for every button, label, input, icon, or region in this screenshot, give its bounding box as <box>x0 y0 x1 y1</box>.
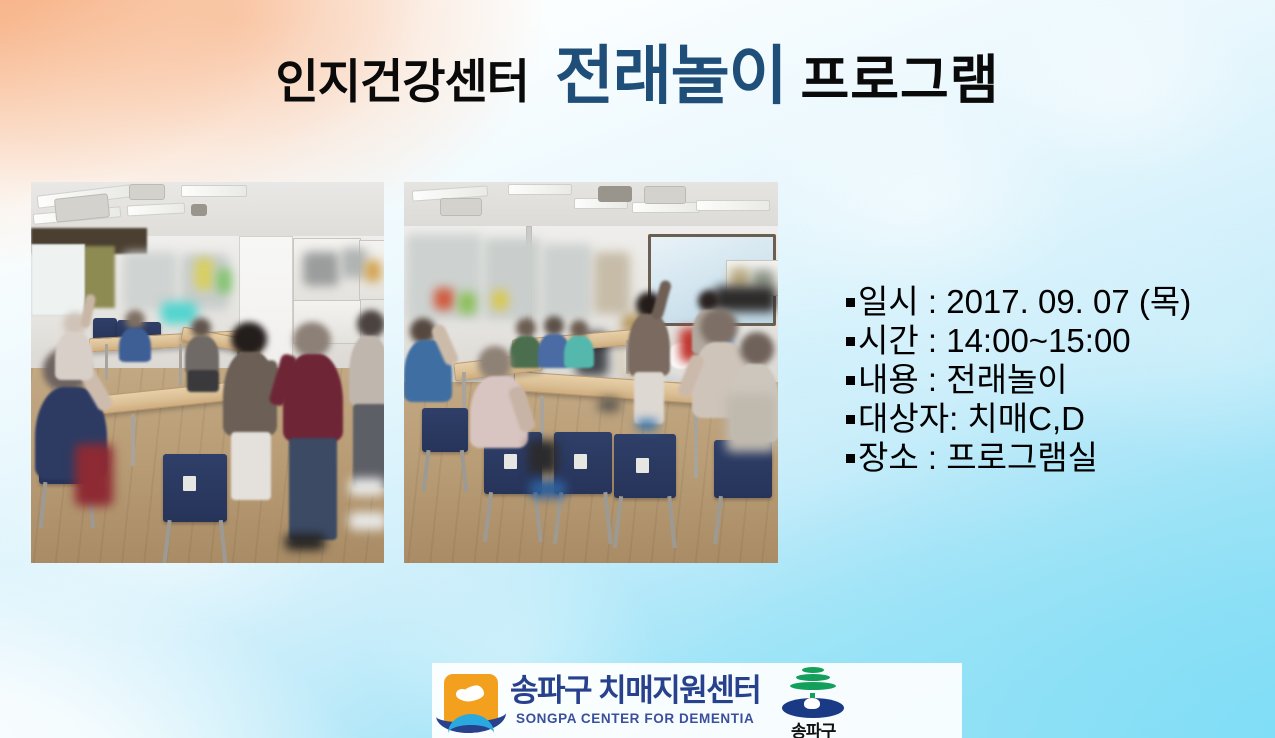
title-highlight: 전래놀이 <box>555 40 787 112</box>
detail-time: 시간 : 14:00~15:00 <box>858 322 1131 361</box>
emblem-label: 송파구 <box>774 717 852 738</box>
bullet-square-icon <box>846 454 855 463</box>
bullet-square-icon <box>846 337 855 346</box>
logo-english-name: SONGPA CENTER FOR DEMENTIA <box>516 711 754 726</box>
bullet-square-icon <box>846 298 855 307</box>
slide-title: 인지건강센터전래놀이프로그램 <box>0 44 1275 108</box>
songpa-dementia-center-logo-icon <box>436 670 498 732</box>
program-photo-1 <box>31 182 384 563</box>
bullet-square-icon <box>846 376 855 385</box>
list-item: 대상자: 치매C,D <box>846 400 1266 439</box>
program-photo-2 <box>404 182 778 563</box>
detail-target: 대상자: 치매C,D <box>858 400 1085 439</box>
list-item: 시간 : 14:00~15:00 <box>846 322 1266 361</box>
title-suffix: 프로그램 <box>800 51 999 110</box>
bullet-square-icon <box>846 415 855 424</box>
title-prefix: 인지건강센터 <box>275 55 528 108</box>
songpa-gu-emblem-icon: 송파구 <box>774 665 852 737</box>
detail-date: 일시 : 2017. 09. 07 (목) <box>858 283 1191 322</box>
list-item: 장소 : 프로그램실 <box>846 439 1266 478</box>
detail-place: 장소 : 프로그램실 <box>858 439 1098 478</box>
logo-korean-name: 송파구 치매지원센터 <box>510 675 760 708</box>
presentation-slide: 인지건강센터전래놀이프로그램 <box>0 0 1275 738</box>
detail-content: 내용 : 전래놀이 <box>858 361 1068 400</box>
program-details-list: 일시 : 2017. 09. 07 (목) 시간 : 14:00~15:00 내… <box>846 283 1266 478</box>
list-item: 일시 : 2017. 09. 07 (목) <box>846 283 1266 322</box>
list-item: 내용 : 전래놀이 <box>846 361 1266 400</box>
logo-wordmark: 송파구 치매지원센터 SONGPA CENTER FOR DEMENTIA <box>510 675 760 726</box>
footer-logo-strip: 송파구 치매지원센터 SONGPA CENTER FOR DEMENTIA 송파… <box>432 663 962 738</box>
